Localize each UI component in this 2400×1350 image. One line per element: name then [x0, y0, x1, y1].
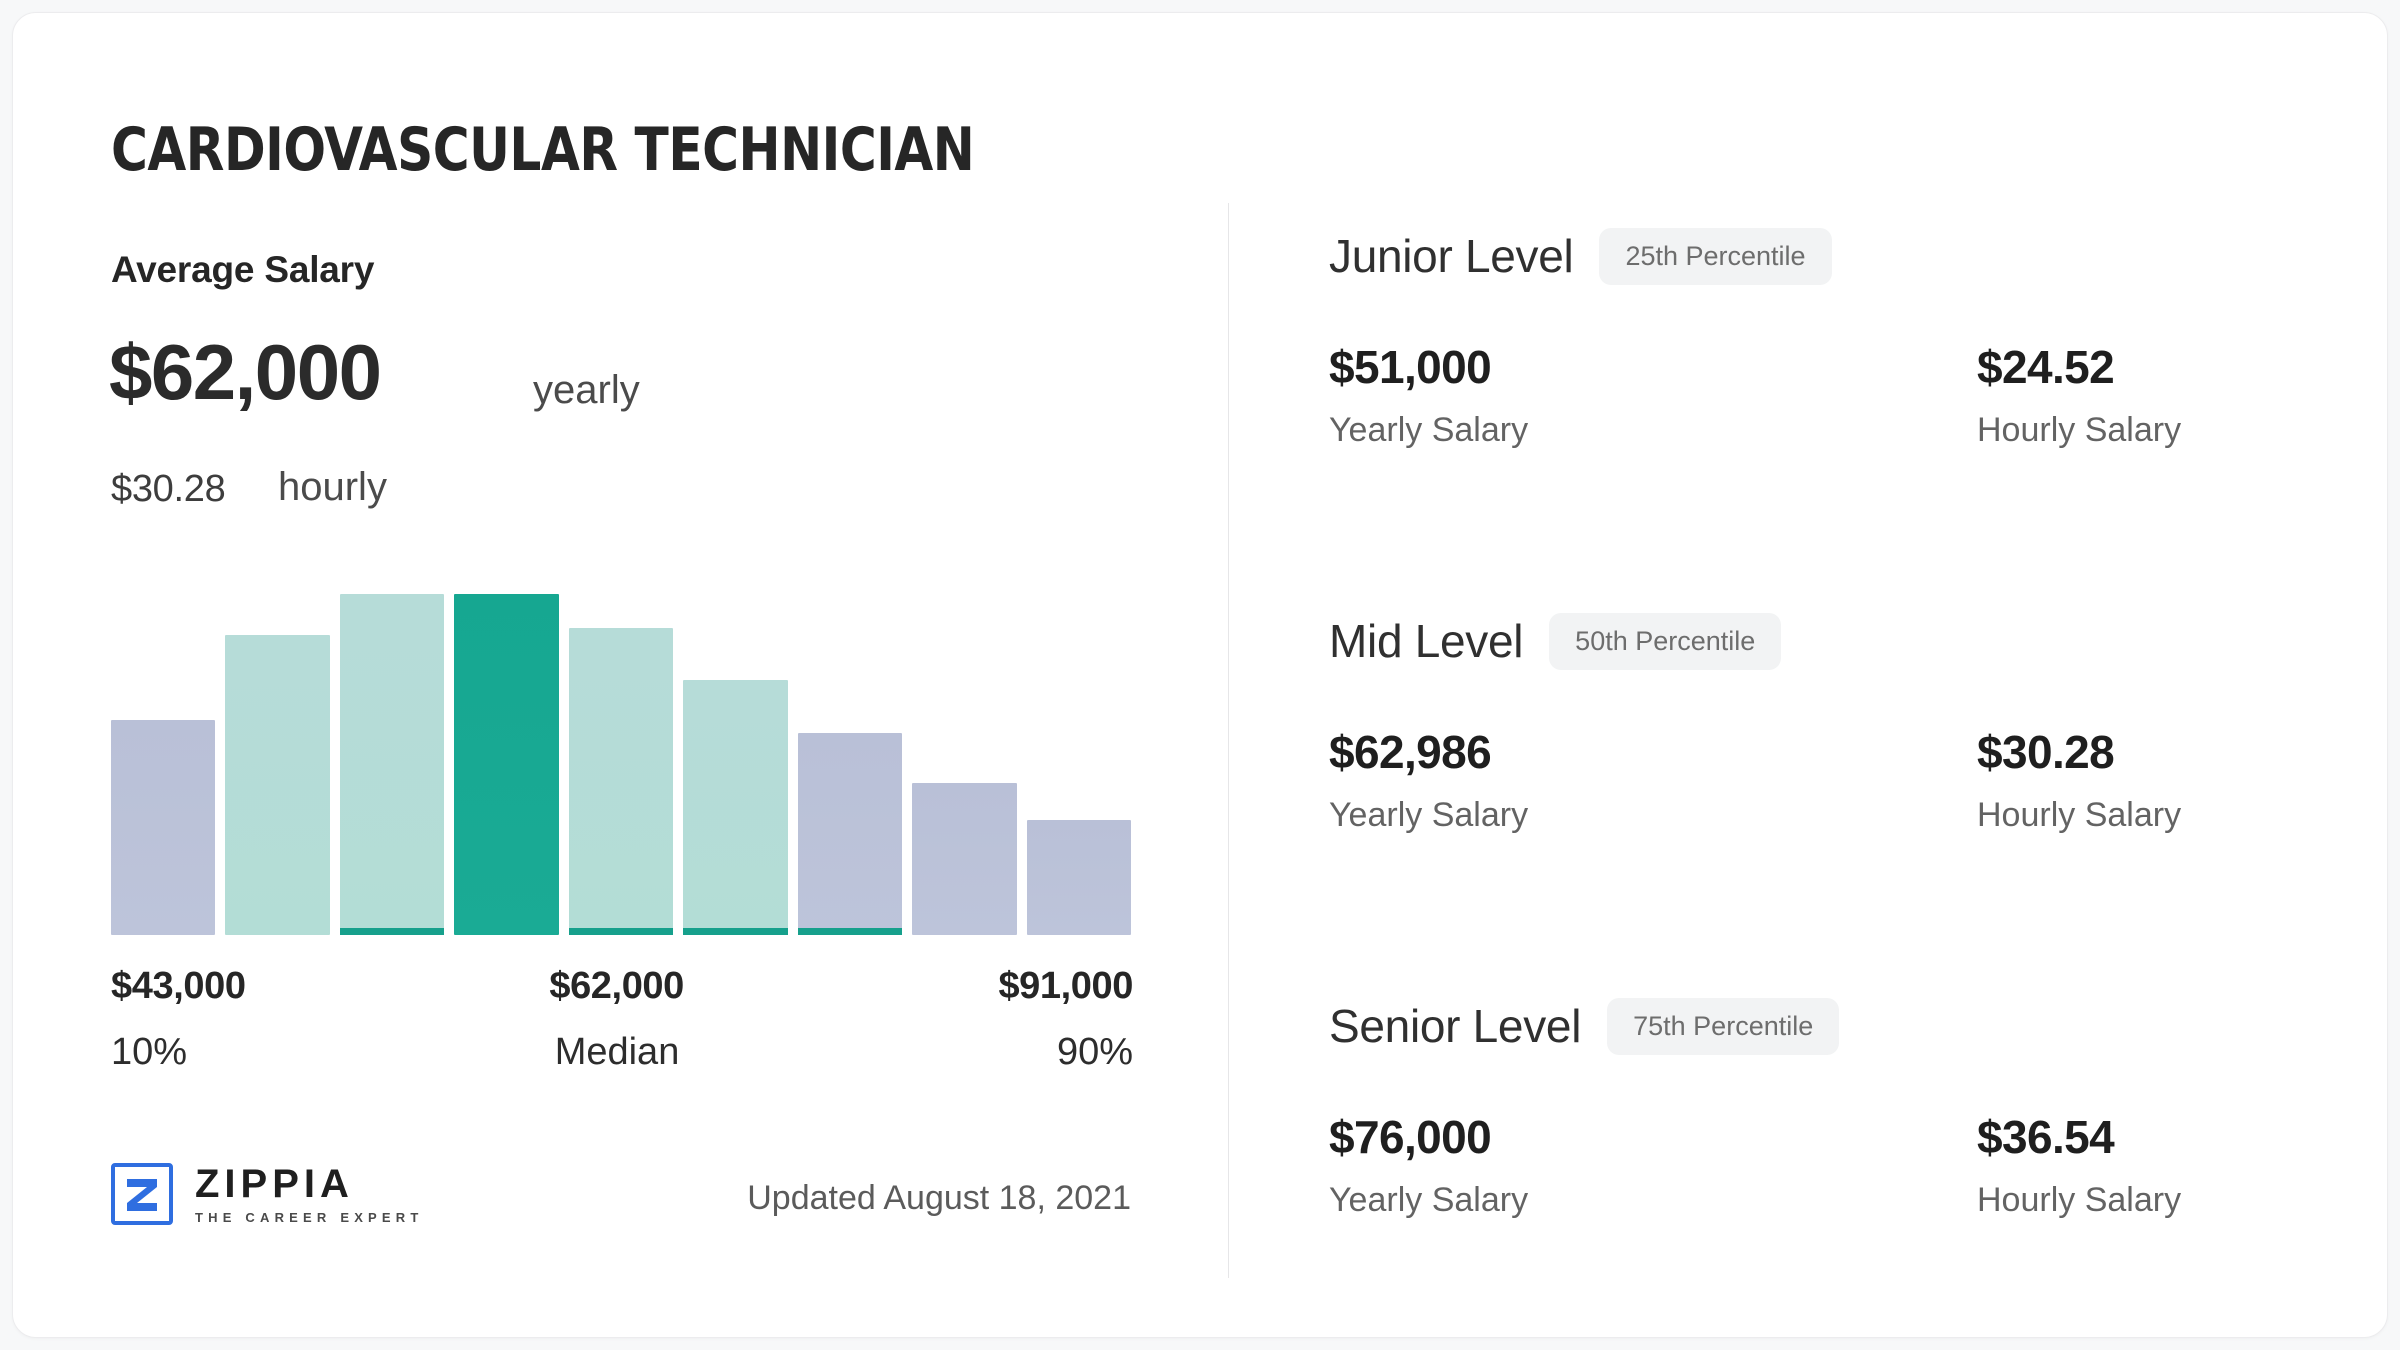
- axis-low-value: $43,000: [111, 965, 246, 1008]
- axis-high-value: $91,000: [998, 965, 1133, 1008]
- chart-axis-labels: 10% Median 90%: [111, 1031, 1133, 1075]
- zippia-logo-tagline: THE CAREER EXPERT: [195, 1211, 424, 1224]
- page-title: CARDIOVASCULAR TECHNICIAN: [111, 115, 974, 185]
- stat-yearly-value: $51,000: [1329, 341, 1528, 393]
- stat-yearly-value: $62,986: [1329, 726, 1528, 778]
- stat-hourly-label: Hourly Salary: [1977, 1181, 2181, 1220]
- average-salary-label: Average Salary: [111, 249, 374, 291]
- stat-hourly: $24.52 Hourly Salary: [1977, 341, 2181, 450]
- stat-yearly-value: $76,000: [1329, 1111, 1528, 1163]
- percentile-badge: 50th Percentile: [1549, 613, 1781, 670]
- stat-hourly-label: Hourly Salary: [1977, 411, 2181, 450]
- level-section-mid: Mid Level 50th Percentile $62,986 Yearly…: [1329, 608, 2289, 856]
- stat-yearly-label: Yearly Salary: [1329, 1181, 1528, 1220]
- zippia-logo[interactable]: ZIPPIA THE CAREER EXPERT: [111, 1163, 424, 1225]
- stat-yearly: $62,986 Yearly Salary: [1329, 726, 1528, 835]
- page-root: CARDIOVASCULAR TECHNICIAN Average Salary…: [0, 0, 2400, 1350]
- level-name: Mid Level: [1329, 614, 1523, 668]
- chart-bar: [683, 680, 787, 935]
- right-panel: Junior Level 25th Percentile $51,000 Yea…: [1229, 13, 2388, 1338]
- zippia-wordmark: ZIPPIA THE CAREER EXPERT: [195, 1164, 424, 1224]
- level-stats: $51,000 Yearly Salary $24.52 Hourly Sala…: [1329, 341, 2289, 471]
- zippia-z-icon: [111, 1163, 173, 1225]
- stat-yearly-label: Yearly Salary: [1329, 796, 1528, 835]
- level-section-junior: Junior Level 25th Percentile $51,000 Yea…: [1329, 223, 2289, 471]
- stat-yearly: $76,000 Yearly Salary: [1329, 1111, 1528, 1220]
- stat-hourly: $30.28 Hourly Salary: [1977, 726, 2181, 835]
- chart-axis-values: $43,000 $62,000 $91,000: [111, 965, 1133, 1009]
- card-footer: ZIPPIA THE CAREER EXPERT Updated August …: [111, 1163, 1131, 1253]
- level-section-senior: Senior Level 75th Percentile $76,000 Yea…: [1329, 993, 2289, 1241]
- zippia-logo-word: ZIPPIA: [195, 1164, 424, 1204]
- average-hourly-amount: $30.28: [111, 468, 225, 511]
- chart-bar: [569, 628, 673, 935]
- updated-date: Updated August 18, 2021: [747, 1179, 1131, 1218]
- level-name: Senior Level: [1329, 999, 1581, 1053]
- level-header: Junior Level 25th Percentile: [1329, 223, 2289, 289]
- average-yearly-unit: yearly: [533, 368, 640, 413]
- chart-bar: [798, 733, 902, 935]
- level-stats: $62,986 Yearly Salary $30.28 Hourly Sala…: [1329, 726, 2289, 856]
- chart-bar: [912, 783, 1016, 935]
- stat-hourly-value: $36.54: [1977, 1111, 2181, 1163]
- chart-bar: [1027, 820, 1131, 935]
- axis-mid-value: $62,000: [549, 965, 684, 1008]
- stat-yearly-label: Yearly Salary: [1329, 411, 1528, 450]
- chart-bar: [111, 720, 215, 935]
- chart-bars: [111, 573, 1131, 935]
- average-yearly-amount: $62,000: [109, 333, 380, 411]
- axis-low-label: 10%: [111, 1031, 187, 1074]
- percentile-badge: 75th Percentile: [1607, 998, 1839, 1055]
- chart-bar: [340, 594, 444, 935]
- percentile-badge: 25th Percentile: [1599, 228, 1831, 285]
- left-panel: CARDIOVASCULAR TECHNICIAN Average Salary…: [13, 13, 1229, 1338]
- stat-hourly: $36.54 Hourly Salary: [1977, 1111, 2181, 1220]
- level-header: Senior Level 75th Percentile: [1329, 993, 2289, 1059]
- average-hourly-unit: hourly: [278, 465, 387, 510]
- axis-high-label: 90%: [1057, 1031, 1133, 1074]
- axis-mid-label: Median: [555, 1031, 680, 1074]
- level-stats: $76,000 Yearly Salary $36.54 Hourly Sala…: [1329, 1111, 2289, 1241]
- chart-bar: [225, 635, 329, 935]
- stat-hourly-value: $24.52: [1977, 341, 2181, 393]
- chart-bar: [454, 594, 558, 935]
- salary-distribution-chart: [111, 573, 1131, 935]
- stat-yearly: $51,000 Yearly Salary: [1329, 341, 1528, 450]
- stat-hourly-value: $30.28: [1977, 726, 2181, 778]
- level-name: Junior Level: [1329, 229, 1573, 283]
- level-header: Mid Level 50th Percentile: [1329, 608, 2289, 674]
- stat-hourly-label: Hourly Salary: [1977, 796, 2181, 835]
- salary-card: CARDIOVASCULAR TECHNICIAN Average Salary…: [12, 12, 2388, 1338]
